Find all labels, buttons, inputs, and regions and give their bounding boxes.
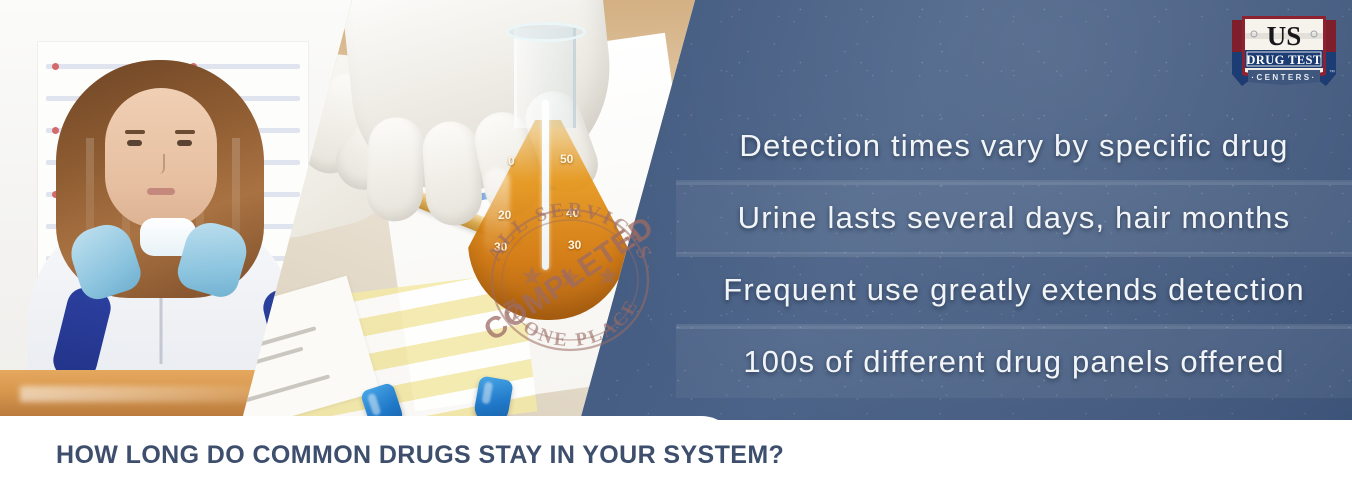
bullet-row: Urine lasts several days, hair months [676, 182, 1352, 254]
logo-trademark-text: ™ [1329, 69, 1335, 76]
us-drug-test-centers-logo[interactable]: US DRUG TEST ·CENTERS· ™ [1228, 12, 1340, 94]
title-bar: HOW LONG DO COMMON DRUGS STAY IN YOUR SY… [0, 416, 740, 494]
infographic-banner: 0 50 20 40 30 30 ALL SERVICES IN ONE PLA… [0, 0, 1352, 494]
flask-marking: 50 [560, 152, 573, 166]
bullet-list: Detection times vary by specific drug Ur… [676, 110, 1352, 405]
bullet-row: Detection times vary by specific drug [676, 110, 1352, 182]
flask-marking: 30 [494, 240, 507, 254]
bullet-text: Urine lasts several days, hair months [738, 200, 1291, 236]
logo-us-text: US [1267, 21, 1302, 51]
flask-marking: 0 [508, 154, 515, 168]
bullet-row: 100s of different drug panels offered [676, 326, 1352, 398]
logo-centers-text: ·CENTERS· [1251, 73, 1316, 82]
bullet-text: Detection times vary by specific drug [739, 128, 1288, 164]
flask-marking: 20 [498, 208, 511, 222]
bullet-text: 100s of different drug panels offered [743, 344, 1284, 380]
technician-face [105, 88, 217, 228]
flask-marking: 30 [568, 238, 581, 252]
page-title: HOW LONG DO COMMON DRUGS STAY IN YOUR SY… [56, 441, 784, 470]
bullet-row: Frequent use greatly extends detection [676, 254, 1352, 326]
erlenmeyer-flask: 0 50 20 40 30 30 [468, 28, 628, 318]
flask-marking: 40 [566, 206, 579, 220]
logo-drug-test-text: DRUG TEST [1246, 53, 1322, 67]
bullet-text: Frequent use greatly extends detection [723, 272, 1305, 308]
blue-tube-cap [472, 375, 513, 420]
